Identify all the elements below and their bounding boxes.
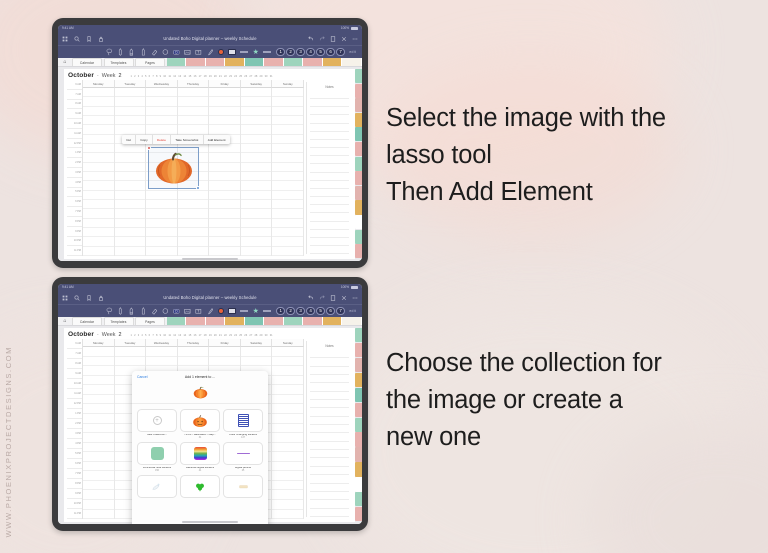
color-tab[interactable] xyxy=(323,317,343,325)
day-number[interactable]: 12 xyxy=(173,334,176,337)
planner-header: October · Week 2 1 2 3 4 5 6 7 8 9 10 xyxy=(64,328,355,339)
time-label: 10 PM xyxy=(67,499,82,509)
side-tab[interactable] xyxy=(355,113,362,127)
side-tab[interactable] xyxy=(355,215,362,229)
color-tab[interactable] xyxy=(342,317,362,325)
home-icon[interactable]: ⌂ xyxy=(58,58,72,66)
time-label: 6 PM xyxy=(67,459,82,469)
color-tab[interactable] xyxy=(245,317,265,325)
collection-thumbnail xyxy=(223,409,263,432)
color-tab[interactable] xyxy=(186,58,206,66)
day-header-thursday: Thursday xyxy=(178,339,210,347)
star-icon[interactable]: ★ xyxy=(253,49,259,56)
side-tab[interactable] xyxy=(355,69,362,83)
marker-icon[interactable] xyxy=(207,48,214,56)
color-tab[interactable] xyxy=(264,317,284,325)
day-number[interactable]: 12 xyxy=(173,75,176,78)
context-menu-copy[interactable]: Copy xyxy=(136,135,153,144)
time-label: 6 AM xyxy=(67,339,82,349)
time-label: 9 AM xyxy=(67,109,82,119)
image-icon[interactable] xyxy=(184,48,191,56)
collection-item-halloween[interactable]: TPFG - Halloween - Hap... 31 xyxy=(180,409,220,439)
day-number[interactable]: 20 xyxy=(214,334,217,337)
pen-preset[interactable]: 3 xyxy=(296,307,304,315)
toolbar-edit-label[interactable]: edit xyxy=(349,50,356,54)
grid-icon[interactable] xyxy=(62,295,68,301)
day-number[interactable]: 9 xyxy=(160,75,161,78)
day-number[interactable]: 16 xyxy=(194,334,197,337)
marker-icon[interactable] xyxy=(207,307,214,315)
document-tab-bar: ⌂ Calendar Templates Pages xyxy=(58,317,362,326)
battery-percent: 100% xyxy=(341,27,349,30)
pen-preset[interactable]: 6 xyxy=(326,307,334,315)
day-column[interactable] xyxy=(83,88,115,256)
pumpkin-sticker xyxy=(192,414,208,428)
camera-icon[interactable] xyxy=(173,48,180,56)
day-number[interactable]: 29 xyxy=(260,334,263,337)
side-tab[interactable] xyxy=(355,492,362,506)
tab-pages[interactable]: Pages xyxy=(135,317,165,325)
time-label: 8 PM xyxy=(67,479,82,489)
day-number[interactable]: 13 xyxy=(178,334,181,337)
day-number[interactable]: 21 xyxy=(219,75,222,78)
tab-templates[interactable]: Templates xyxy=(104,58,134,66)
side-tab[interactable] xyxy=(355,230,362,244)
day-header-tuesday: Tuesday xyxy=(115,80,147,88)
cancel-button[interactable]: Cancel xyxy=(137,375,148,379)
collection-count: 31 xyxy=(199,437,202,439)
day-number[interactable]: 30 xyxy=(265,334,268,337)
shape-icon[interactable] xyxy=(162,307,169,315)
collection-label: New Collection... xyxy=(147,434,167,437)
planner-week-label: Week xyxy=(102,73,116,79)
day-number[interactable]: 4 xyxy=(141,75,142,78)
time-label: 2 PM xyxy=(67,158,82,168)
side-tab[interactable] xyxy=(355,477,362,491)
side-tab[interactable] xyxy=(355,447,362,461)
planner-day-number-strip: 1 2 3 4 5 6 7 8 9 10 11 12 13 14 xyxy=(130,75,272,78)
collection-thumbnail: + xyxy=(137,409,177,432)
lock-icon[interactable] xyxy=(98,295,104,301)
search-icon[interactable] xyxy=(74,295,80,301)
collection-item-color-changing[interactable]: Color changing stickers 147 xyxy=(223,409,263,439)
time-label: 12 PM xyxy=(67,399,82,409)
planner-month: October xyxy=(68,72,94,79)
day-number[interactable]: 8 xyxy=(156,75,157,78)
planner-month: October xyxy=(68,331,94,338)
day-number[interactable]: 15 xyxy=(188,334,191,337)
day-number[interactable]: 22 xyxy=(224,334,227,337)
lock-icon[interactable] xyxy=(98,36,104,42)
collection-label: Functional note stickers xyxy=(143,467,171,470)
collection-item-row3-a[interactable] xyxy=(137,475,177,500)
weekly-planner-page: October · Week 2 1 2 3 4 5 6 7 8 9 10 xyxy=(64,69,355,259)
color-tab[interactable] xyxy=(323,58,343,66)
context-menu-add-element[interactable]: Add Element xyxy=(204,135,230,144)
day-number[interactable]: 6 xyxy=(149,75,150,78)
time-label: 7 AM xyxy=(67,90,82,100)
side-tab[interactable] xyxy=(355,157,362,171)
collection-count: 156 xyxy=(155,470,159,472)
planner-week-number: 2 xyxy=(118,332,121,338)
image-icon[interactable] xyxy=(184,307,191,315)
side-tab[interactable] xyxy=(355,84,362,98)
star-icon[interactable]: ★ xyxy=(253,308,259,315)
instruction-line: the image or create a xyxy=(386,382,754,419)
side-tab-strip xyxy=(355,326,362,524)
day-number[interactable]: 27 xyxy=(249,334,252,337)
time-label: 5 PM xyxy=(67,449,82,459)
stroke-divider xyxy=(263,51,271,52)
day-header-tuesday: Tuesday xyxy=(115,339,147,347)
side-tab-strip xyxy=(355,67,362,261)
pen-preset[interactable]: 1 xyxy=(276,307,284,315)
day-number[interactable]: 23 xyxy=(229,334,232,337)
day-number[interactable]: 20 xyxy=(214,75,217,78)
more-icon[interactable] xyxy=(352,36,358,42)
text-box-icon[interactable] xyxy=(195,307,202,315)
day-number[interactable]: 17 xyxy=(199,75,202,78)
time-label: 9 PM xyxy=(67,227,82,237)
day-number[interactable]: 2 xyxy=(134,334,135,337)
delete-handle[interactable] xyxy=(147,146,151,150)
page-icon[interactable] xyxy=(330,295,336,301)
day-number[interactable]: 10 xyxy=(163,75,166,78)
side-tab[interactable] xyxy=(355,171,362,185)
day-number[interactable]: 11 xyxy=(168,334,171,337)
rainbow-gradient-icon xyxy=(194,447,207,460)
color-tab[interactable] xyxy=(186,317,206,325)
notes-lines[interactable] xyxy=(307,91,352,254)
stroke-divider xyxy=(240,310,248,311)
modal-title: Add 1 element to ... xyxy=(132,375,268,379)
day-number[interactable]: 28 xyxy=(254,334,257,337)
day-number[interactable]: 26 xyxy=(244,75,247,78)
day-number[interactable]: 25 xyxy=(239,75,242,78)
collection-label: TPFG - Halloween - Hap... xyxy=(184,434,216,437)
day-number[interactable]: 17 xyxy=(199,334,202,337)
side-tab[interactable] xyxy=(355,358,362,372)
collection-item-functional-notes[interactable]: Functional note stickers 156 xyxy=(137,442,177,472)
planner-page-area: October · Week 2 1 2 3 4 5 6 7 8 9 10 xyxy=(58,67,362,261)
pencil-icon[interactable] xyxy=(140,48,147,56)
day-number[interactable]: 27 xyxy=(249,75,252,78)
collection-item-new[interactable]: + New Collection... xyxy=(137,409,177,439)
eraser-icon[interactable] xyxy=(151,48,158,56)
day-header-row: Monday Tuesday Wednesday Thursday Friday… xyxy=(83,80,304,88)
redo-icon[interactable] xyxy=(319,295,325,301)
selection-bounding-box[interactable] xyxy=(148,147,199,189)
color-swatch-panel[interactable] xyxy=(228,308,236,314)
home-indicator xyxy=(182,521,238,523)
color-tab[interactable] xyxy=(303,58,323,66)
color-swatch-panel[interactable] xyxy=(228,49,236,55)
day-header-saturday: Saturday xyxy=(241,339,273,347)
side-tab[interactable] xyxy=(355,98,362,112)
search-icon[interactable] xyxy=(74,36,80,42)
pen-preset[interactable]: 7 xyxy=(336,307,344,315)
collection-item-row3-b[interactable] xyxy=(180,475,220,500)
ios-status-bar: 9:41 AM 100% xyxy=(58,284,362,291)
home-icon[interactable]: ⌂ xyxy=(58,317,72,325)
pumpkin-sticker xyxy=(193,386,208,399)
day-number[interactable]: 23 xyxy=(229,75,232,78)
title-bar-left-icons xyxy=(62,36,104,42)
color-tab[interactable] xyxy=(245,58,265,66)
context-menu-take-screenshot[interactable]: Take Screenshot xyxy=(171,135,203,144)
tablet-screen-top: 9:41 AM 100% Undated Boho Digital planne… xyxy=(58,25,362,261)
status-bar-left: 9:41 AM xyxy=(62,27,74,30)
title-bar-left-icons xyxy=(62,295,104,301)
tab-templates[interactable]: Templates xyxy=(104,317,134,325)
undo-icon[interactable] xyxy=(308,36,314,42)
side-tab[interactable] xyxy=(355,462,362,476)
planner-separator: · xyxy=(97,332,99,338)
day-number[interactable]: 15 xyxy=(188,75,191,78)
tablet-screen-bottom: 9:41 AM 100% Undated Boho Digital planne… xyxy=(58,284,362,524)
day-number[interactable]: 8 xyxy=(156,334,157,337)
day-number[interactable]: 25 xyxy=(239,334,242,337)
day-header-sunday: Sunday xyxy=(272,80,304,88)
color-tab[interactable] xyxy=(206,58,226,66)
pen-icon[interactable] xyxy=(117,48,124,56)
day-header-wednesday: Wednesday xyxy=(146,339,178,347)
close-icon[interactable] xyxy=(341,295,347,301)
lasso-icon[interactable] xyxy=(106,48,113,56)
pen-icon[interactable] xyxy=(117,307,124,315)
highlighter-icon[interactable] xyxy=(128,48,135,56)
pencil-icon[interactable] xyxy=(140,307,147,315)
day-number[interactable]: 7 xyxy=(152,75,153,78)
notes-title: Notes xyxy=(307,82,352,91)
time-label: 12 PM xyxy=(67,139,82,149)
side-tab[interactable] xyxy=(355,388,362,402)
day-number[interactable]: 19 xyxy=(209,75,212,78)
side-tab[interactable] xyxy=(355,432,362,446)
grid-icon[interactable] xyxy=(62,36,68,42)
day-column[interactable] xyxy=(272,347,304,519)
side-tab[interactable] xyxy=(355,200,362,214)
side-tab[interactable] xyxy=(355,403,362,417)
tab-calendar[interactable]: Calendar xyxy=(72,58,102,66)
day-number[interactable]: 31 xyxy=(270,75,273,78)
page-icon[interactable] xyxy=(330,36,336,42)
pen-preset[interactable]: 4 xyxy=(306,307,314,315)
day-number[interactable]: 24 xyxy=(234,334,237,337)
undo-icon[interactable] xyxy=(308,295,314,301)
time-label: 8 PM xyxy=(67,217,82,227)
color-tab[interactable] xyxy=(167,317,187,325)
day-number[interactable]: 13 xyxy=(178,75,181,78)
color-tab[interactable] xyxy=(206,317,226,325)
day-number[interactable]: 3 xyxy=(138,334,139,337)
instruction-line: Then Add Element xyxy=(386,174,754,211)
day-header-sunday: Sunday xyxy=(272,339,304,347)
status-bar-left: 9:41 AM xyxy=(62,286,74,289)
day-column[interactable] xyxy=(241,88,273,256)
tablet-device-bottom: 9:41 AM 100% Undated Boho Digital planne… xyxy=(52,277,368,531)
day-number[interactable]: 28 xyxy=(254,75,257,78)
day-number[interactable]: 16 xyxy=(194,75,197,78)
day-number[interactable]: 4 xyxy=(141,334,142,337)
close-icon[interactable] xyxy=(341,36,347,42)
day-number[interactable]: 18 xyxy=(204,75,207,78)
pen-preset[interactable]: 1 xyxy=(276,48,284,56)
plus-circle-icon: + xyxy=(153,416,162,425)
side-tab[interactable] xyxy=(355,343,362,357)
time-label: 8 AM xyxy=(67,359,82,369)
add-element-modal[interactable]: Cancel Add 1 element to ... xyxy=(132,371,268,524)
planner-week-number: 2 xyxy=(118,73,121,79)
eraser-icon[interactable] xyxy=(151,307,158,315)
day-number[interactable]: 29 xyxy=(260,75,263,78)
day-number[interactable]: 5 xyxy=(145,75,146,78)
instruction-step-2: Choose the collection for the image or c… xyxy=(386,345,754,456)
color-swatch-orange[interactable] xyxy=(218,308,224,314)
day-number[interactable]: 22 xyxy=(224,75,227,78)
color-tab[interactable] xyxy=(284,58,304,66)
pen-preset-group: 1 2 3 4 5 6 7 xyxy=(276,307,344,315)
day-number[interactable]: 31 xyxy=(270,334,273,337)
bookmark-icon[interactable] xyxy=(86,36,92,42)
color-tab[interactable] xyxy=(225,317,245,325)
collection-label: Rainbow digital stickers xyxy=(186,467,214,470)
day-number[interactable]: 9 xyxy=(160,334,161,337)
pen-preset[interactable]: 5 xyxy=(316,307,324,315)
instruction-step-1: Select the image with the lasso tool The… xyxy=(386,100,754,211)
side-tab[interactable] xyxy=(355,328,362,342)
collection-item-rainbow[interactable]: Rainbow digital stickers 41 xyxy=(180,442,220,472)
status-time: 9:41 AM xyxy=(62,27,74,30)
highlighter-icon[interactable] xyxy=(128,307,135,315)
color-tab[interactable] xyxy=(284,317,304,325)
day-number[interactable]: 6 xyxy=(149,334,150,337)
day-number[interactable]: 1 xyxy=(130,75,131,78)
side-tab[interactable] xyxy=(355,186,362,200)
purple-pencil-line-icon xyxy=(237,453,250,455)
side-tab[interactable] xyxy=(355,127,362,141)
collection-item-row3-c[interactable] xyxy=(223,475,263,500)
collection-thumbnail xyxy=(223,475,263,498)
instruction-line: Select the image with the xyxy=(386,100,754,137)
pen-preset[interactable]: 5 xyxy=(316,48,324,56)
camera-icon[interactable] xyxy=(173,307,180,315)
tab-calendar[interactable]: Calendar xyxy=(72,317,102,325)
day-number[interactable]: 5 xyxy=(145,334,146,337)
day-number[interactable]: 21 xyxy=(219,334,222,337)
tab-pages[interactable]: Pages xyxy=(135,58,165,66)
day-number[interactable]: 14 xyxy=(183,75,186,78)
day-number[interactable]: 10 xyxy=(163,334,166,337)
time-label: 9 AM xyxy=(67,369,82,379)
tablet-device-top: 9:41 AM 100% Undated Boho Digital planne… xyxy=(52,18,368,268)
notes-lines[interactable] xyxy=(307,350,352,517)
time-label: 11 PM xyxy=(67,246,82,256)
collection-thumbnail xyxy=(180,409,220,432)
instruction-line: lasso tool xyxy=(386,137,754,174)
more-icon[interactable] xyxy=(352,295,358,301)
day-column[interactable] xyxy=(209,88,241,256)
element-preview xyxy=(132,382,268,404)
planner-header: October · Week 2 1 2 3 4 5 6 7 8 9 10 xyxy=(64,69,355,80)
collection-thumbnail xyxy=(180,475,220,498)
day-column[interactable] xyxy=(115,88,147,256)
day-number[interactable]: 1 xyxy=(130,334,131,337)
side-tab[interactable] xyxy=(355,373,362,387)
side-tab[interactable] xyxy=(355,142,362,156)
color-tab-group xyxy=(167,58,363,66)
day-number[interactable]: 19 xyxy=(209,334,212,337)
instruction-line: Choose the collection for xyxy=(386,345,754,382)
status-time: 9:41 AM xyxy=(62,286,74,289)
day-number[interactable]: 7 xyxy=(152,334,153,337)
pen-preset[interactable]: 7 xyxy=(336,48,344,56)
day-number[interactable]: 18 xyxy=(204,334,207,337)
day-number[interactable]: 30 xyxy=(265,75,268,78)
modal-header: Cancel Add 1 element to ... xyxy=(132,371,268,382)
side-tab[interactable] xyxy=(355,418,362,432)
collection-thumbnail xyxy=(137,475,177,498)
color-tab[interactable] xyxy=(303,317,323,325)
color-tab[interactable] xyxy=(264,58,284,66)
color-tab[interactable] xyxy=(167,58,187,66)
battery-icon xyxy=(351,286,358,289)
collection-item-digital-pencils[interactable]: Digital pencils 25 xyxy=(223,442,263,472)
day-number[interactable]: 2 xyxy=(134,75,135,78)
pen-preset[interactable]: 3 xyxy=(296,48,304,56)
pen-preset[interactable]: 4 xyxy=(306,48,314,56)
time-label: 7 AM xyxy=(67,349,82,359)
resize-handle[interactable] xyxy=(196,186,200,190)
side-tab[interactable] xyxy=(355,507,362,521)
day-number[interactable]: 24 xyxy=(234,75,237,78)
toolbar-edit-label[interactable]: edit xyxy=(349,309,356,313)
day-column[interactable] xyxy=(83,347,115,519)
collection-count: 147 xyxy=(241,437,245,439)
status-bar-right: 100% xyxy=(341,27,358,30)
context-menu-cut[interactable]: Cut xyxy=(122,135,136,144)
day-number[interactable]: 26 xyxy=(244,334,247,337)
time-label: 11 AM xyxy=(67,129,82,139)
pen-preset[interactable]: 6 xyxy=(326,48,334,56)
day-number[interactable]: 11 xyxy=(168,75,171,78)
collection-thumbnail xyxy=(137,442,177,465)
white-sticker-icon xyxy=(151,481,163,493)
color-tab[interactable] xyxy=(225,58,245,66)
side-tab[interactable] xyxy=(355,244,362,258)
pen-toolbar: ★ 1 2 3 4 5 6 7 edit xyxy=(58,304,362,317)
day-column[interactable] xyxy=(272,88,304,256)
color-swatch-orange[interactable] xyxy=(218,49,224,55)
day-number[interactable]: 3 xyxy=(138,75,139,78)
green-clover-icon xyxy=(194,481,206,493)
redo-icon[interactable] xyxy=(319,36,325,42)
planner-page-area: October · Week 2 1 2 3 4 5 6 7 8 9 10 xyxy=(58,326,362,524)
shape-icon[interactable] xyxy=(162,48,169,56)
bookmark-icon[interactable] xyxy=(86,295,92,301)
color-tab[interactable] xyxy=(342,58,362,66)
lasso-icon[interactable] xyxy=(106,307,113,315)
time-label: 1 PM xyxy=(67,409,82,419)
planner-day-number-strip: 1 2 3 4 5 6 7 8 9 10 11 12 13 14 xyxy=(130,334,272,337)
context-menu-delete[interactable]: Delete xyxy=(153,135,171,144)
day-header-saturday: Saturday xyxy=(241,80,273,88)
collection-thumbnail xyxy=(223,442,263,465)
pen-preset[interactable]: 2 xyxy=(286,48,294,56)
text-box-icon[interactable] xyxy=(195,48,202,56)
day-number[interactable]: 14 xyxy=(183,334,186,337)
pen-preset[interactable]: 2 xyxy=(286,307,294,315)
